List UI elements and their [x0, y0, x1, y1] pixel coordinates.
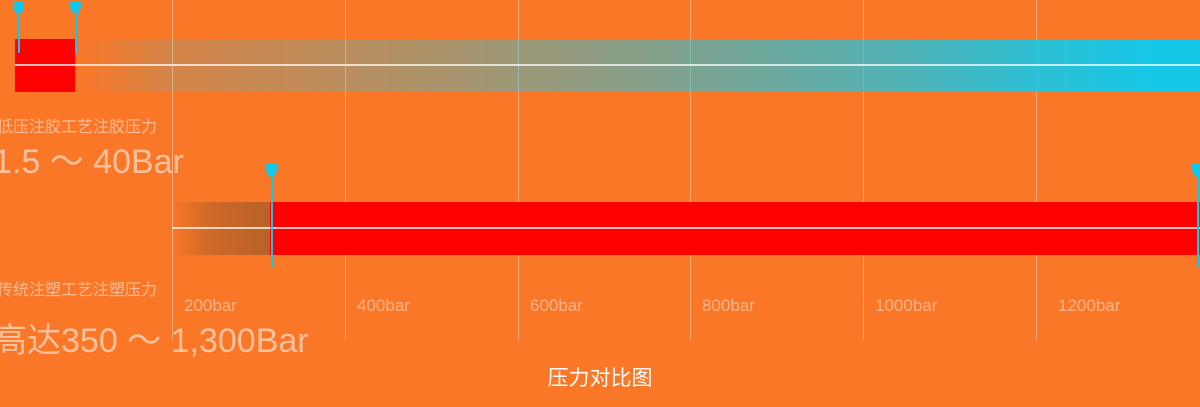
pin-stem-icon	[75, 13, 77, 53]
axis-tick-1200: 1200bar	[1058, 296, 1120, 316]
label-low-pressure-title: 低压注胶工艺注胶压力	[0, 118, 157, 138]
series-low-pressure-bar[interactable]	[15, 39, 75, 92]
bar-split-line	[270, 227, 1200, 229]
pin-stem-icon	[18, 13, 20, 53]
chart-caption: 压力对比图	[0, 366, 1200, 392]
series-low-pressure-gradient-bar	[75, 39, 1200, 92]
series-traditional-bar[interactable]	[270, 202, 1200, 255]
bar-split-line	[75, 64, 1200, 66]
label-traditional-title: 传统注塑工艺注塑压力	[0, 281, 157, 301]
bar-split-line	[15, 64, 75, 66]
pin-stem-icon	[1197, 176, 1199, 268]
pin-stem-icon	[271, 176, 273, 268]
axis-tick-400: 400bar	[357, 296, 410, 316]
bar-split-line	[172, 227, 272, 229]
pin-head-icon	[1192, 164, 1200, 177]
axis-tick-800: 800bar	[702, 296, 755, 316]
axis-tick-600: 600bar	[530, 296, 583, 316]
label-traditional-value: 高达350 ～ 1,300Bar	[0, 320, 309, 362]
axis-tick-1000: 1000bar	[875, 296, 937, 316]
label-low-pressure-value: 1.5 ～ 40Bar	[0, 141, 184, 183]
series-traditional-gradient-bar	[172, 202, 272, 255]
pressure-comparison-chart: 低压注胶工艺注胶压力 1.5 ～ 40Bar 传统注塑工艺注塑压力 高达350 …	[0, 0, 1200, 407]
axis-tick-200: 200bar	[184, 296, 237, 316]
